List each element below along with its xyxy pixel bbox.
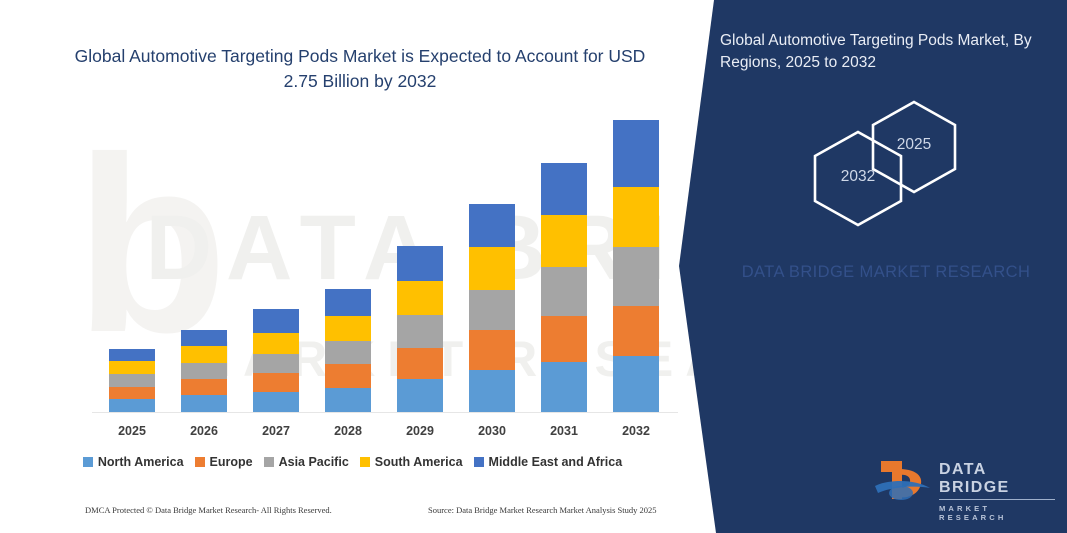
legend-item[interactable]: Asia Pacific [264, 455, 349, 469]
logo-name: DATA BRIDGE [939, 461, 1055, 500]
bar-segment [181, 395, 227, 412]
bar-segment [541, 362, 587, 412]
bar-segment [109, 361, 155, 374]
bar-segment [469, 290, 515, 330]
bar-column [541, 163, 587, 412]
x-axis-tick-label: 2031 [534, 424, 594, 438]
bar-segment [253, 354, 299, 373]
bar-segment [397, 315, 443, 348]
bar-segment [613, 306, 659, 356]
x-axis-labels: 20252026202720282029203020312032 [96, 424, 672, 444]
x-axis-tick-label: 2029 [390, 424, 450, 438]
brand-name: DATA BRIDGE MARKET RESEARCH [725, 260, 1047, 285]
hexagon-badges: 2025 2032 [808, 98, 998, 213]
bar-segment [109, 387, 155, 400]
bar-segment [397, 246, 443, 281]
stacked-bar-plot [96, 120, 672, 412]
bar-segment [109, 374, 155, 387]
footer: DMCA Protected © Data Bridge Market Rese… [0, 505, 705, 525]
bar-segment [109, 349, 155, 361]
chart-area: Global Automotive Targeting Pods Market … [0, 0, 705, 533]
bar-segment [181, 330, 227, 346]
bar-segment [181, 363, 227, 379]
legend-swatch [474, 457, 484, 467]
bar-segment [613, 120, 659, 187]
legend-label: Europe [210, 455, 253, 469]
legend-label: Middle East and Africa [489, 455, 623, 469]
x-axis-tick-label: 2028 [318, 424, 378, 438]
footer-copyright: DMCA Protected © Data Bridge Market Rese… [85, 505, 332, 515]
bar-column [469, 204, 515, 412]
x-axis-line [92, 412, 678, 413]
logo-text: DATA BRIDGE MARKET RESEARCH [939, 461, 1055, 522]
bar-segment [397, 281, 443, 315]
legend-swatch [83, 457, 93, 467]
side-panel-content: Global Automotive Targeting Pods Market,… [705, 0, 1067, 533]
x-axis-tick-label: 2026 [174, 424, 234, 438]
legend-item[interactable]: Europe [195, 455, 253, 469]
legend-swatch [264, 457, 274, 467]
bar-column [181, 330, 227, 412]
legend-swatch [195, 457, 205, 467]
panel-title: Global Automotive Targeting Pods Market,… [720, 30, 1052, 74]
bar-segment [253, 392, 299, 412]
logo-mark-icon [875, 455, 935, 503]
x-axis-tick-label: 2030 [462, 424, 522, 438]
bar-segment [613, 187, 659, 248]
bar-segment [253, 333, 299, 353]
bar-segment [253, 373, 299, 392]
page-title: Global Automotive Targeting Pods Market … [60, 44, 660, 95]
x-axis-tick-label: 2027 [246, 424, 306, 438]
bar-column [613, 120, 659, 412]
x-axis-tick-label: 2032 [606, 424, 666, 438]
bar-segment [325, 316, 371, 340]
logo-subtitle: MARKET RESEARCH [939, 504, 1055, 522]
bar-segment [325, 289, 371, 317]
bar-segment [469, 247, 515, 289]
bar-segment [541, 316, 587, 362]
legend-swatch [360, 457, 370, 467]
bar-segment [397, 348, 443, 379]
bar-segment [541, 215, 587, 267]
bar-column [325, 289, 371, 412]
bar-segment [541, 267, 587, 317]
legend-label: North America [98, 455, 184, 469]
x-axis-tick-label: 2025 [102, 424, 162, 438]
footer-source: Source: Data Bridge Market Research Mark… [428, 505, 657, 515]
legend-item[interactable]: North America [83, 455, 184, 469]
bar-column [109, 349, 155, 412]
bar-segment [613, 356, 659, 412]
bar-segment [325, 364, 371, 387]
bar-segment [469, 370, 515, 412]
bar-segment [253, 309, 299, 333]
infographic-root: b DATA BRIDGE MARKET RESEARCH Global Aut… [0, 0, 1067, 533]
legend-item[interactable]: South America [360, 455, 463, 469]
bar-column [397, 246, 443, 412]
chart-legend: North AmericaEuropeAsia PacificSouth Ame… [0, 455, 705, 469]
bar-segment [325, 341, 371, 364]
hexagon-2032-label: 2032 [808, 168, 908, 186]
legend-item[interactable]: Middle East and Africa [474, 455, 623, 469]
bar-segment [469, 204, 515, 248]
bar-segment [613, 247, 659, 305]
legend-label: South America [375, 455, 463, 469]
bar-segment [181, 379, 227, 395]
data-bridge-logo: DATA BRIDGE MARKET RESEARCH [875, 455, 1055, 507]
bar-segment [325, 388, 371, 412]
bar-segment [397, 379, 443, 412]
bar-column [253, 309, 299, 412]
legend-label: Asia Pacific [279, 455, 349, 469]
bar-segment [181, 346, 227, 363]
bar-segment [469, 330, 515, 369]
bar-segment [109, 399, 155, 412]
bar-segment [541, 163, 587, 215]
